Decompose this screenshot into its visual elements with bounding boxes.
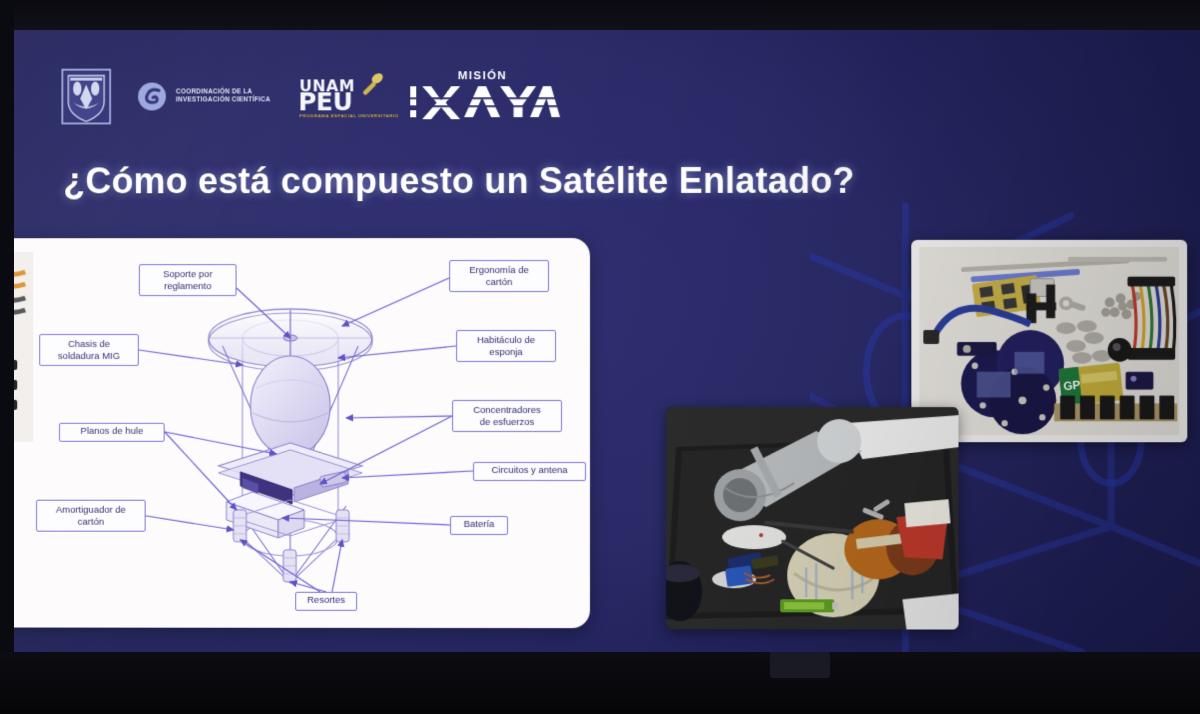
assembly-workbench-image	[666, 407, 959, 630]
room-ceiling-edge	[0, 0, 1200, 30]
peu-main-text: PEU	[298, 89, 352, 114]
projected-slide: Coordinación de la Investigación Científ…	[11, 15, 1200, 656]
peu-sub-text: PROGRAMA ESPACIAL UNIVERSITARIO	[299, 113, 399, 118]
diagram-label-planos: Planos de hule	[59, 423, 165, 442]
diagram-label-habitaculo: Habitáculo de esponja	[456, 330, 556, 362]
unam-shield-icon	[61, 69, 111, 125]
screenshot-root: Coordinación de la Investigación Científ…	[0, 0, 1200, 714]
diagram-label-resortes: Resortes	[295, 592, 357, 611]
ixaya-wordmark-icon	[408, 84, 560, 120]
room-floor-edge	[0, 652, 1200, 714]
page-title: ¿Cómo está compuesto un Satélite Enlatad…	[63, 160, 1062, 203]
diagram-label-soporte: Soporte por reglamento	[139, 264, 237, 296]
unam-peu-logo: UNAM PEU PROGRAMA ESPACIAL UNIVERSITARIO	[296, 69, 382, 123]
cansat-diagram-card: Soporte por reglamento Ergonomía de cart…	[11, 238, 590, 628]
diagram-label-ergonomia: Ergonomía de cartón	[449, 260, 549, 292]
projector-shadow	[770, 652, 830, 678]
cansat-assembly-photo	[666, 407, 959, 630]
satellite-dish-icon	[358, 71, 384, 97]
cic-logo: Coordinación de la Investigación Científ…	[137, 81, 270, 111]
logo-bar: Coordinación de la Investigación Científ…	[61, 64, 560, 128]
diagram-label-circuitos: Circuitos y antena	[473, 462, 586, 481]
diagram-label-chasis: Chasis de soldadura MIG	[39, 334, 139, 366]
cic-line-2: Investigación Científica	[176, 96, 270, 104]
ixaya-mision-text: MISIÓN	[458, 70, 507, 82]
svg-text:GP: GP	[1063, 378, 1082, 394]
cic-line-1: Coordinación de la	[176, 88, 270, 96]
mision-ixaya-logo: MISIÓN	[408, 68, 560, 124]
room-left-edge	[0, 0, 14, 714]
diagram-label-bateria: Batería	[450, 516, 508, 535]
diagram-label-concentradores: Concentradores de esfuerzos	[452, 400, 562, 432]
cic-spiral-icon	[137, 82, 167, 112]
left-edge-cable-photo	[11, 252, 33, 442]
diagram-label-amortiguador: Amortiguador de cartón	[36, 500, 146, 532]
